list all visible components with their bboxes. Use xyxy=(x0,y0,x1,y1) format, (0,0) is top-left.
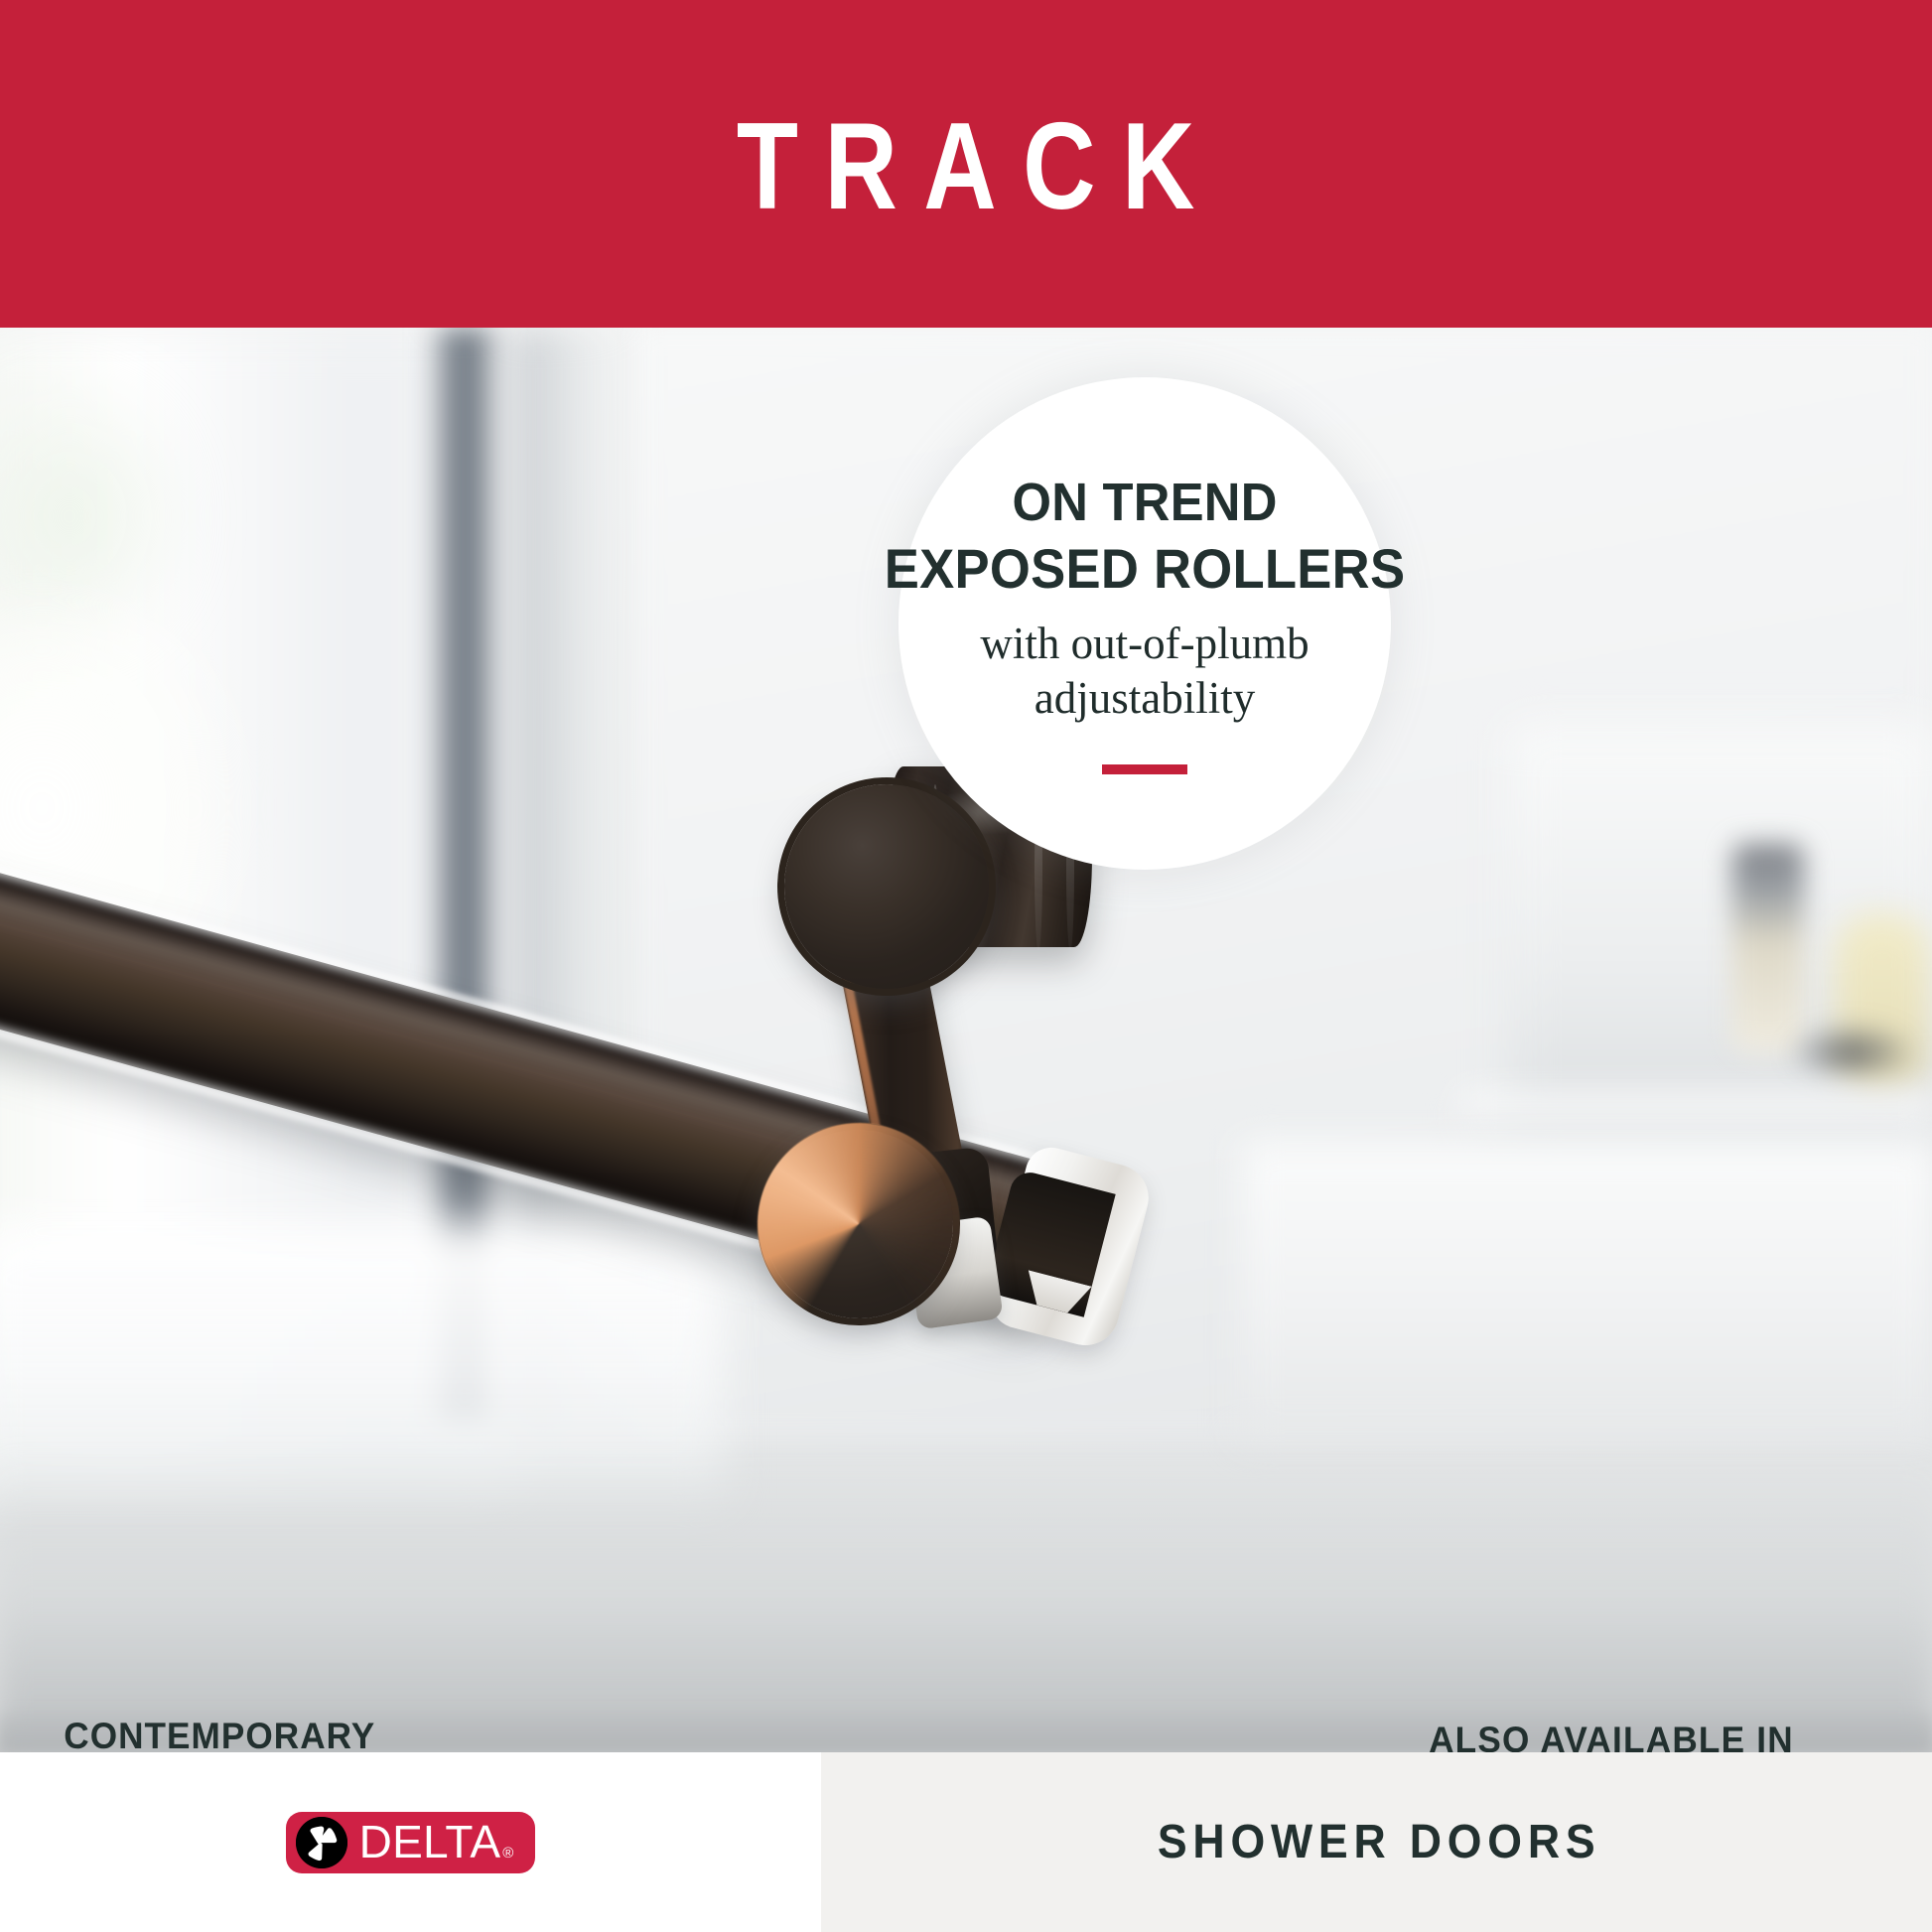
footer-tagline: SHOWER DOORS xyxy=(1152,1815,1600,1869)
delta-registered-mark: ® xyxy=(502,1845,513,1862)
finish-swatches-heading: ALSO AVAILABLE IN xyxy=(1333,1720,1890,1752)
callout-headline-line2: EXPOSED ROLLERS xyxy=(885,538,1406,601)
callout-subtext-line2: adjustability xyxy=(1035,671,1255,726)
product-caption: CONTEMPORARY TRACK IN BRONZE xyxy=(64,1713,375,1752)
background-shelf-edge xyxy=(1459,1092,1932,1140)
background-bottle-cap xyxy=(1787,1023,1916,1082)
callout-accent-rule xyxy=(1102,764,1187,774)
header-band: TRACK xyxy=(0,0,1932,328)
roller-disc-upper xyxy=(784,784,989,989)
background-bottle-tall xyxy=(1732,844,1804,1052)
product-caption-line1: CONTEMPORARY xyxy=(64,1713,375,1752)
footer-tagline-area: SHOWER DOORS xyxy=(821,1752,1932,1932)
product-photo: ON TREND EXPOSED ROLLERS with out-of-plu… xyxy=(0,328,1932,1752)
callout-headline-line1: ON TREND xyxy=(1012,473,1277,532)
delta-logo[interactable]: DELTA ® xyxy=(286,1812,536,1873)
background-floor xyxy=(0,1454,1932,1752)
background-counter xyxy=(1241,1142,1932,1440)
footer-bar: DELTA ® SHOWER DOORS xyxy=(0,1752,1932,1932)
feature-callout-circle: ON TREND EXPOSED ROLLERS with out-of-plu… xyxy=(898,377,1391,870)
page-title: TRACK xyxy=(711,105,1221,228)
delta-triangle-icon xyxy=(296,1817,347,1868)
delta-wordmark: DELTA xyxy=(359,1819,501,1864)
finish-swatches: ALSO AVAILABLE IN CHROME BRUSHED NICKEL … xyxy=(1318,1720,1904,1752)
product-marketing-card: TRACK xyxy=(0,0,1932,1932)
callout-subtext-line1: with out-of-plumb xyxy=(980,617,1309,671)
footer-brand-area: DELTA ® xyxy=(0,1752,821,1932)
